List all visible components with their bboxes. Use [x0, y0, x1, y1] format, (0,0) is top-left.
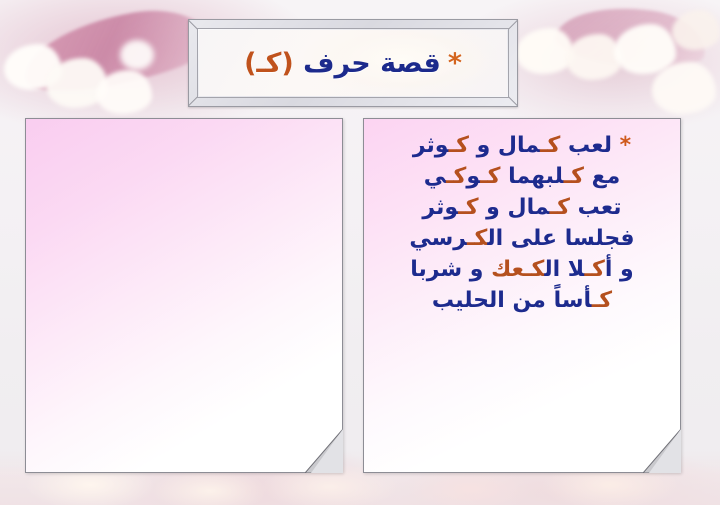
page-title: *قصة حرف (كـ) — [244, 50, 462, 77]
story-line-2-kaf: كـ — [564, 164, 584, 189]
title-word-story: قصة — [380, 48, 441, 79]
story-line-5-kaf: كـ — [585, 257, 605, 282]
story-panel: * لعب كـمال و كـوثر مع كـلبهما كـوكـي تع… — [363, 118, 681, 473]
illustration-canvas — [26, 119, 342, 472]
illustration-panel — [25, 118, 343, 473]
title-frame: *قصة حرف (كـ) — [188, 19, 518, 107]
story-line-5-kaf: كـعك — [491, 257, 544, 282]
story-line-3-kaf: كـ — [550, 195, 570, 220]
page-fold-shape — [643, 429, 681, 473]
story-line-5-seg: لا ال — [544, 257, 584, 282]
story-line-6-kaf: كـ — [592, 288, 612, 313]
title-word-letter: حرف — [303, 48, 371, 79]
story-line-3-seg: مال و — [479, 195, 550, 220]
story-line-2: مع كـلبهما كـوكـي — [378, 166, 666, 188]
story-line-3-seg: تعب — [570, 195, 622, 220]
page-fold-shape — [305, 429, 343, 473]
title-star: * — [448, 48, 462, 79]
worksheet-slide: *قصة حرف (كـ) — [0, 0, 720, 505]
story-line-4-seg: فجلسا على ال — [487, 226, 634, 251]
story-line-5: و أكـلا الكـعك و شربا — [378, 259, 666, 281]
blossom-icon — [120, 40, 154, 70]
blossom-icon — [96, 70, 152, 114]
story-line-4: فجلسا على الكـرسي — [378, 228, 666, 250]
story-text-block: * لعب كـمال و كـوثر مع كـلبهما كـوكـي تع… — [364, 119, 680, 472]
page-fold-corner — [643, 429, 681, 473]
story-line-1-seg: لعب — [560, 133, 612, 158]
story-line-1-seg: وثر — [413, 133, 449, 158]
story-line-2-seg: مع — [584, 164, 620, 189]
story-line-3: تعب كـمال و كـوثر — [378, 197, 666, 219]
story-line-2-seg: لبهما — [500, 164, 563, 189]
blossom-icon — [566, 34, 622, 80]
story-line-1-star: * — [620, 133, 632, 158]
story-line-1: * لعب كـمال و كـوثر — [378, 135, 666, 157]
story-line-3-kaf: كـ — [458, 195, 478, 220]
blossom-icon — [672, 10, 720, 50]
story-line-1-kaf: كـ — [540, 133, 560, 158]
story-line-2-seg: و — [466, 164, 480, 189]
story-line-2-seg: ي — [424, 164, 446, 189]
story-line-4-seg: رسي — [409, 226, 467, 251]
story-line-2-kaf: كـ — [480, 164, 500, 189]
story-line-4-kaf: كـ — [467, 226, 487, 251]
title-letter-kaf: (كـ) — [244, 48, 294, 79]
title-frame-inner: *قصة حرف (كـ) — [199, 30, 507, 96]
story-line-6: كـأساً من الحليب — [378, 290, 666, 312]
story-line-1-seg: مال و — [469, 133, 540, 158]
story-line-5-seg: و أ — [605, 257, 634, 282]
blossom-icon — [516, 28, 574, 74]
story-line-5-seg: و شربا — [410, 257, 491, 282]
story-line-3-seg: وثر — [422, 195, 458, 220]
story-line-2-kaf: كـ — [446, 164, 466, 189]
page-fold-corner — [305, 429, 343, 473]
story-line-6-seg: أساً من الحليب — [432, 288, 592, 313]
story-line-1-kaf: كـ — [449, 133, 469, 158]
